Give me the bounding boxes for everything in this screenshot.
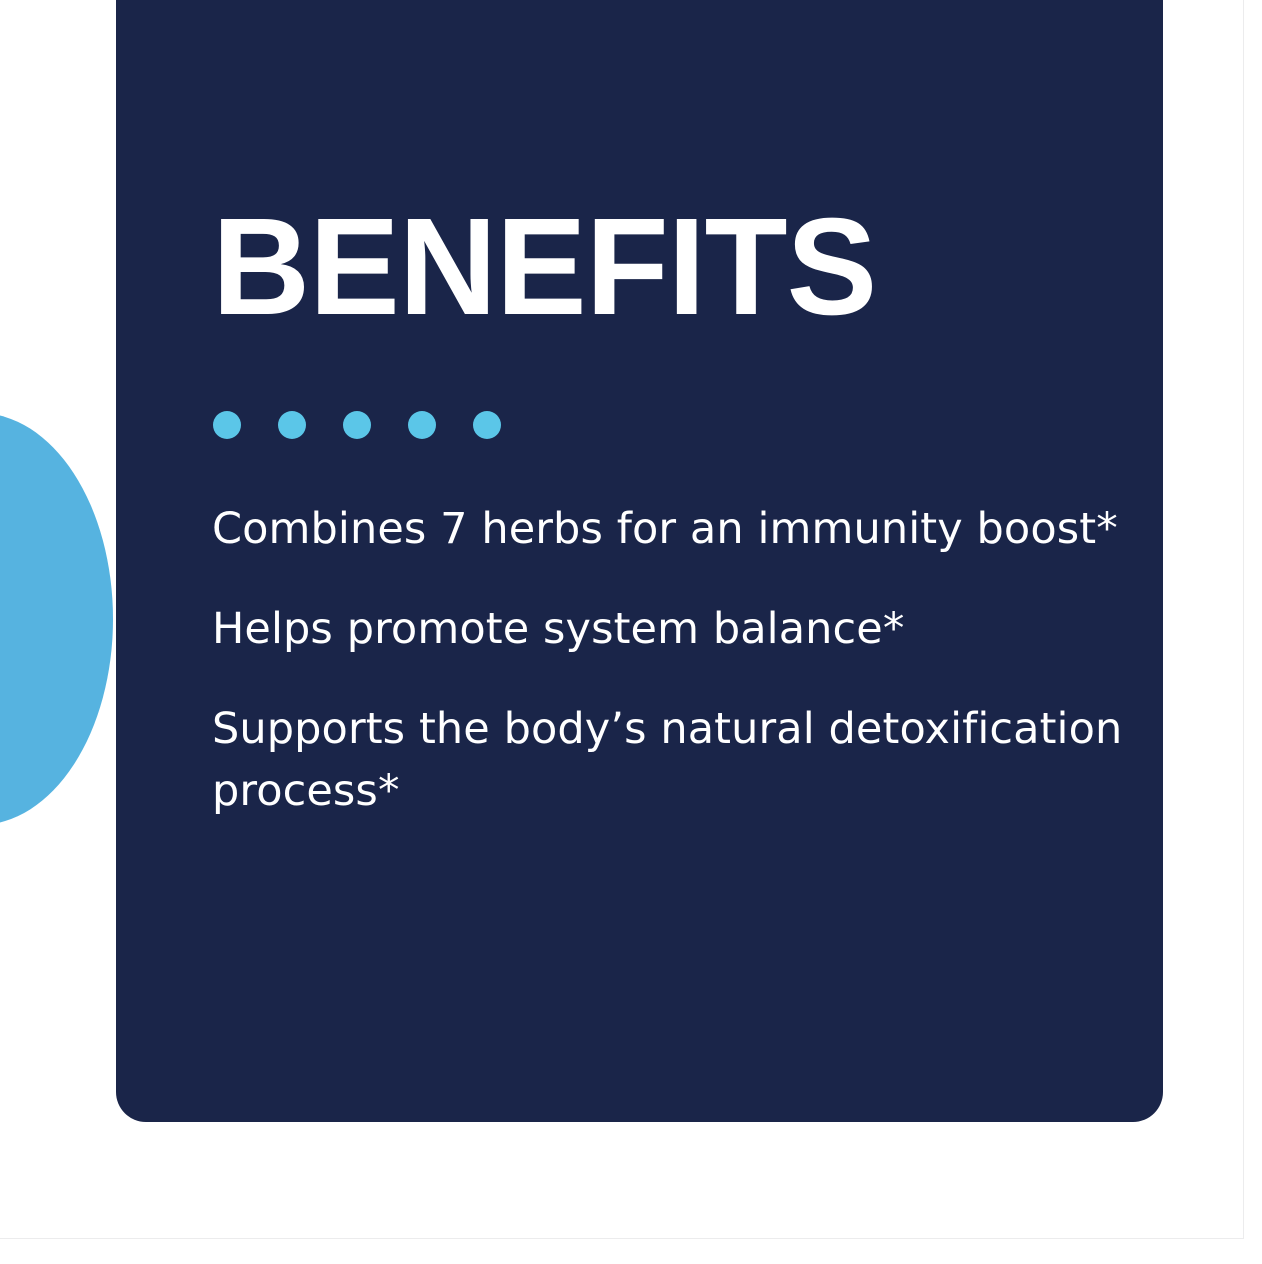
divider-dot-icon [408, 411, 436, 439]
list-item: Combines 7 herbs for an immunity boost* [212, 498, 1132, 560]
divider-dot-icon [343, 411, 371, 439]
benefits-page: BENEFITS Combines 7 herbs for an immunit… [0, 0, 1262, 1264]
accent-ellipse-decoration [0, 413, 113, 825]
divider-dot-icon [278, 411, 306, 439]
divider-dot-icon [473, 411, 501, 439]
benefits-card: BENEFITS Combines 7 herbs for an immunit… [116, 0, 1163, 1122]
list-item: Supports the body’s natural detoxificati… [212, 698, 1132, 822]
benefits-card-content: BENEFITS Combines 7 herbs for an immunit… [212, 0, 1163, 1122]
benefits-list: Combines 7 herbs for an immunity boost* … [212, 498, 1132, 822]
dot-divider [213, 411, 501, 439]
list-item: Helps promote system balance* [212, 598, 1132, 660]
page-title: BENEFITS [212, 198, 876, 336]
divider-dot-icon [213, 411, 241, 439]
